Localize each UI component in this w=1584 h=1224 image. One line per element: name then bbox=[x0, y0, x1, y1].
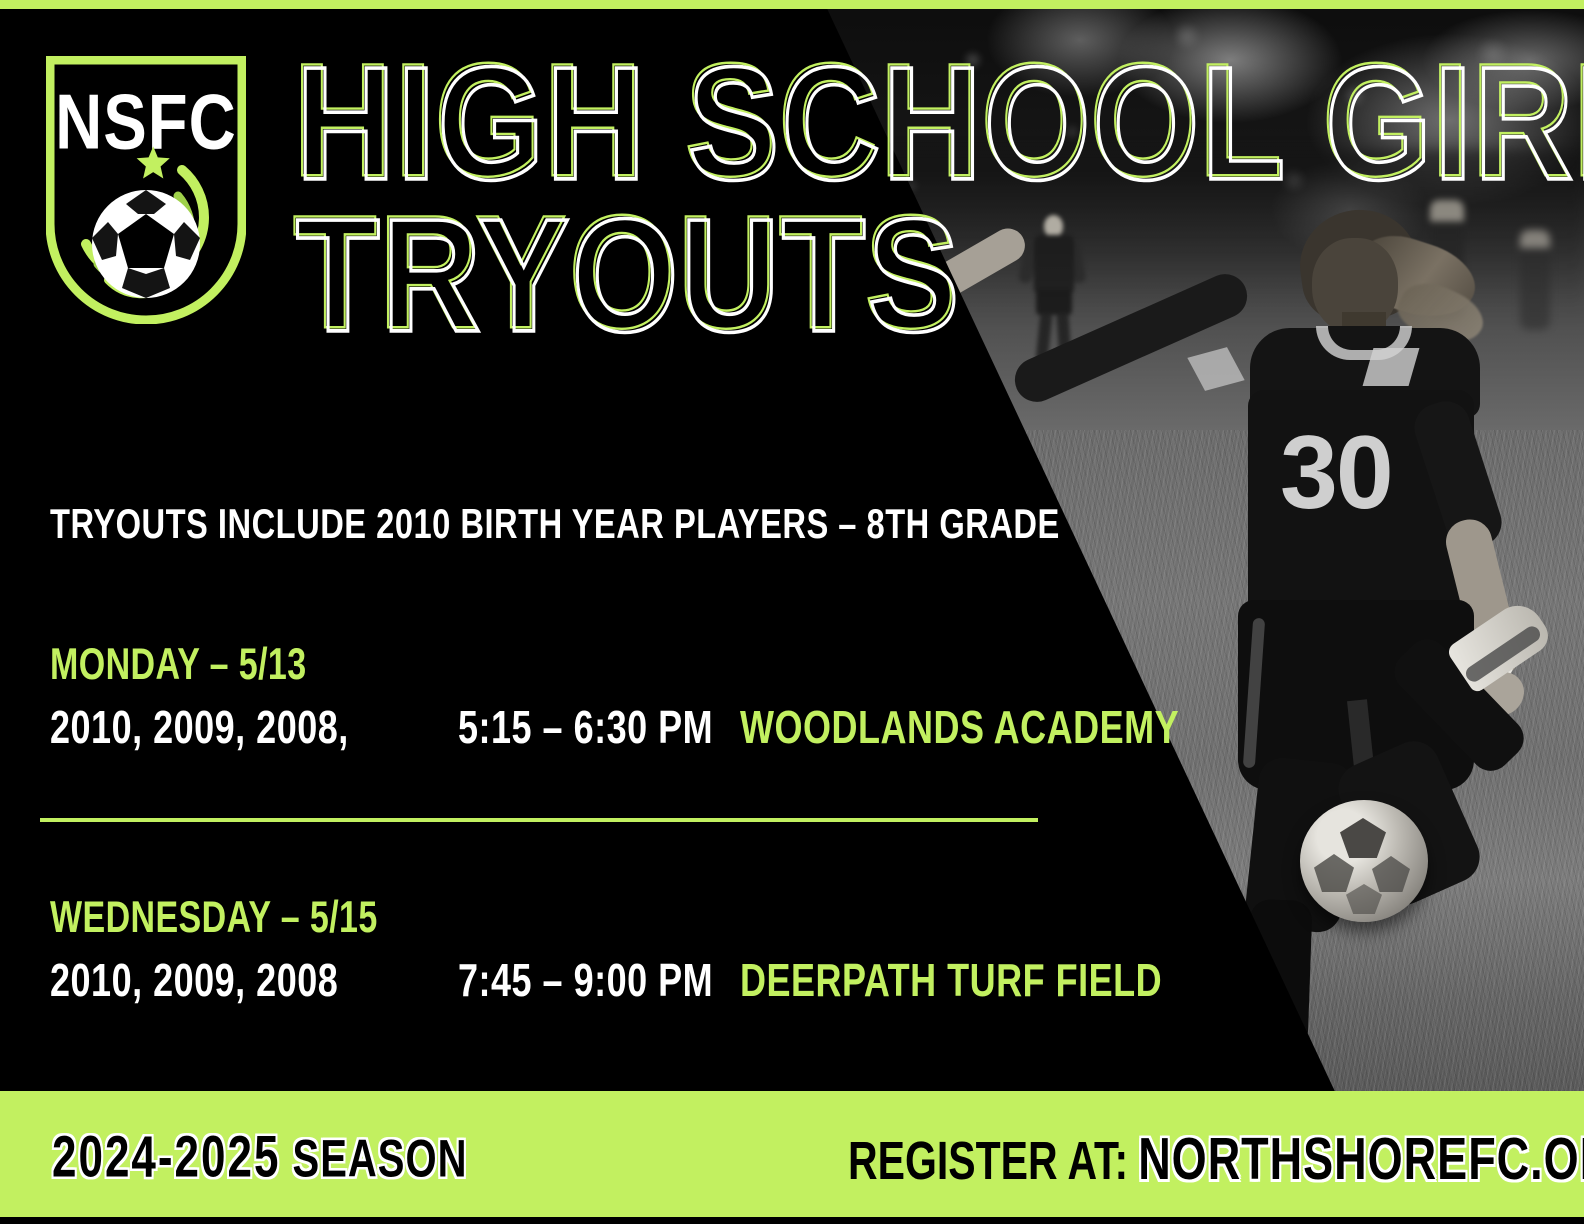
session-birth-years: 2010, 2009, 2008, bbox=[50, 701, 349, 755]
eligibility-subtitle: TRYOUTS INCLUDE 2010 BIRTH YEAR PLAYERS … bbox=[50, 500, 1060, 548]
top-accent-strip bbox=[0, 0, 1584, 9]
svg-text:NSFC: NSFC bbox=[55, 79, 237, 166]
session-divider bbox=[40, 818, 1038, 822]
headline: HIGH SCHOOL GIRLS TRYOUTS bbox=[296, 52, 1584, 322]
nsfc-logo: NSFC bbox=[46, 56, 246, 324]
session-time: 5:15 – 6:30 PM bbox=[458, 701, 713, 755]
tryouts-flyer: 30 NSFC bbox=[0, 0, 1584, 1224]
session-wednesday: WEDNESDAY – 5/15 2010, 2009, 2008 7:45 –… bbox=[50, 893, 1110, 1000]
register-callout[interactable]: REGISTER AT:NORTHSHOREFC.ORG bbox=[848, 1125, 1584, 1194]
soccer-ball bbox=[1300, 800, 1428, 922]
register-url[interactable]: NORTHSHOREFC.ORG bbox=[1138, 1125, 1584, 1192]
season-word: SEASON bbox=[293, 1130, 468, 1188]
bottom-trim-strip bbox=[0, 1217, 1584, 1224]
session-day-label: MONDAY – 5/13 bbox=[50, 640, 1110, 691]
soccer-ball-icon bbox=[92, 190, 200, 298]
session-venue: WOODLANDS ACADEMY bbox=[740, 701, 1179, 755]
headline-line-1: HIGH SCHOOL GIRLS bbox=[296, 52, 1584, 196]
session-details-row: 2010, 2009, 2008, 5:15 – 6:30 PM WOODLAN… bbox=[50, 701, 1110, 747]
season-label: 2024-2025 SEASON bbox=[52, 1125, 467, 1191]
session-details-row: 2010, 2009, 2008 7:45 – 9:00 PM DEERPATH… bbox=[50, 954, 1110, 1000]
session-monday: MONDAY – 5/13 2010, 2009, 2008, 5:15 – 6… bbox=[50, 640, 1110, 747]
session-birth-years: 2010, 2009, 2008 bbox=[50, 954, 338, 1008]
session-day-label: WEDNESDAY – 5/15 bbox=[50, 893, 1110, 944]
headline-line-2: TRYOUTS bbox=[296, 204, 1584, 348]
footer-bar: 2024-2025 SEASON REGISTER AT:NORTHSHOREF… bbox=[0, 1091, 1584, 1217]
session-venue: DEERPATH TURF FIELD bbox=[740, 954, 1162, 1008]
session-time: 7:45 – 9:00 PM bbox=[458, 954, 713, 1008]
season-years: 2024-2025 bbox=[52, 1125, 280, 1190]
register-label: REGISTER AT: bbox=[848, 1130, 1128, 1191]
